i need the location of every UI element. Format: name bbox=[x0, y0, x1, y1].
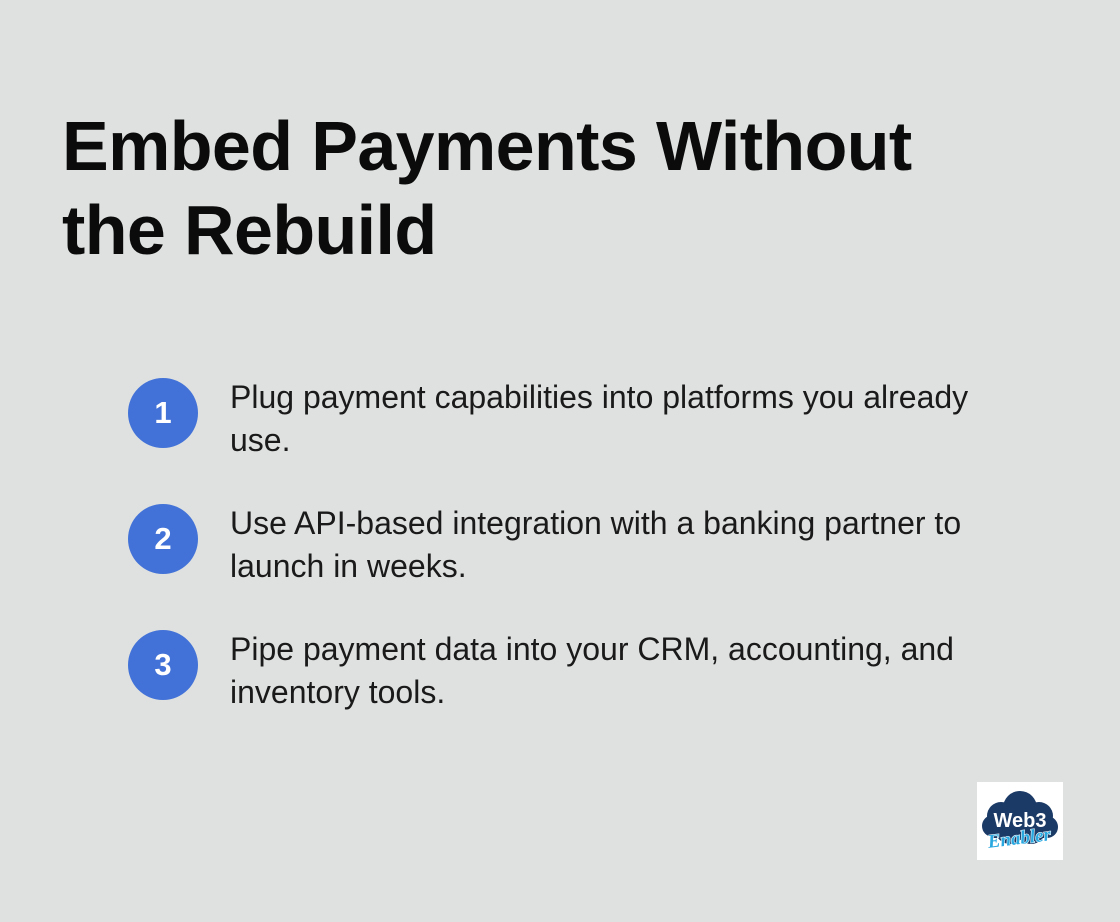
cloud-icon: Web3 Enabler bbox=[977, 782, 1063, 860]
list-item: 1 Plug payment capabilities into platfor… bbox=[128, 376, 1028, 462]
list-item-text-3: Pipe payment data into your CRM, account… bbox=[230, 628, 1020, 714]
numbered-list: 1 Plug payment capabilities into platfor… bbox=[128, 376, 1028, 714]
list-number-badge-3: 3 bbox=[128, 630, 198, 700]
list-number-badge-1: 1 bbox=[128, 378, 198, 448]
list-item: 2 Use API-based integration with a banki… bbox=[128, 502, 1028, 588]
list-number-badge-2: 2 bbox=[128, 504, 198, 574]
list-item-text-2: Use API-based integration with a banking… bbox=[230, 502, 1020, 588]
slide-canvas: Embed Payments Without the Rebuild 1 Plu… bbox=[0, 0, 1120, 922]
list-item: 3 Pipe payment data into your CRM, accou… bbox=[128, 628, 1028, 714]
page-title: Embed Payments Without the Rebuild bbox=[62, 104, 1022, 272]
list-item-text-1: Plug payment capabilities into platforms… bbox=[230, 376, 1020, 462]
web3-enabler-logo: Web3 Enabler bbox=[977, 782, 1063, 860]
